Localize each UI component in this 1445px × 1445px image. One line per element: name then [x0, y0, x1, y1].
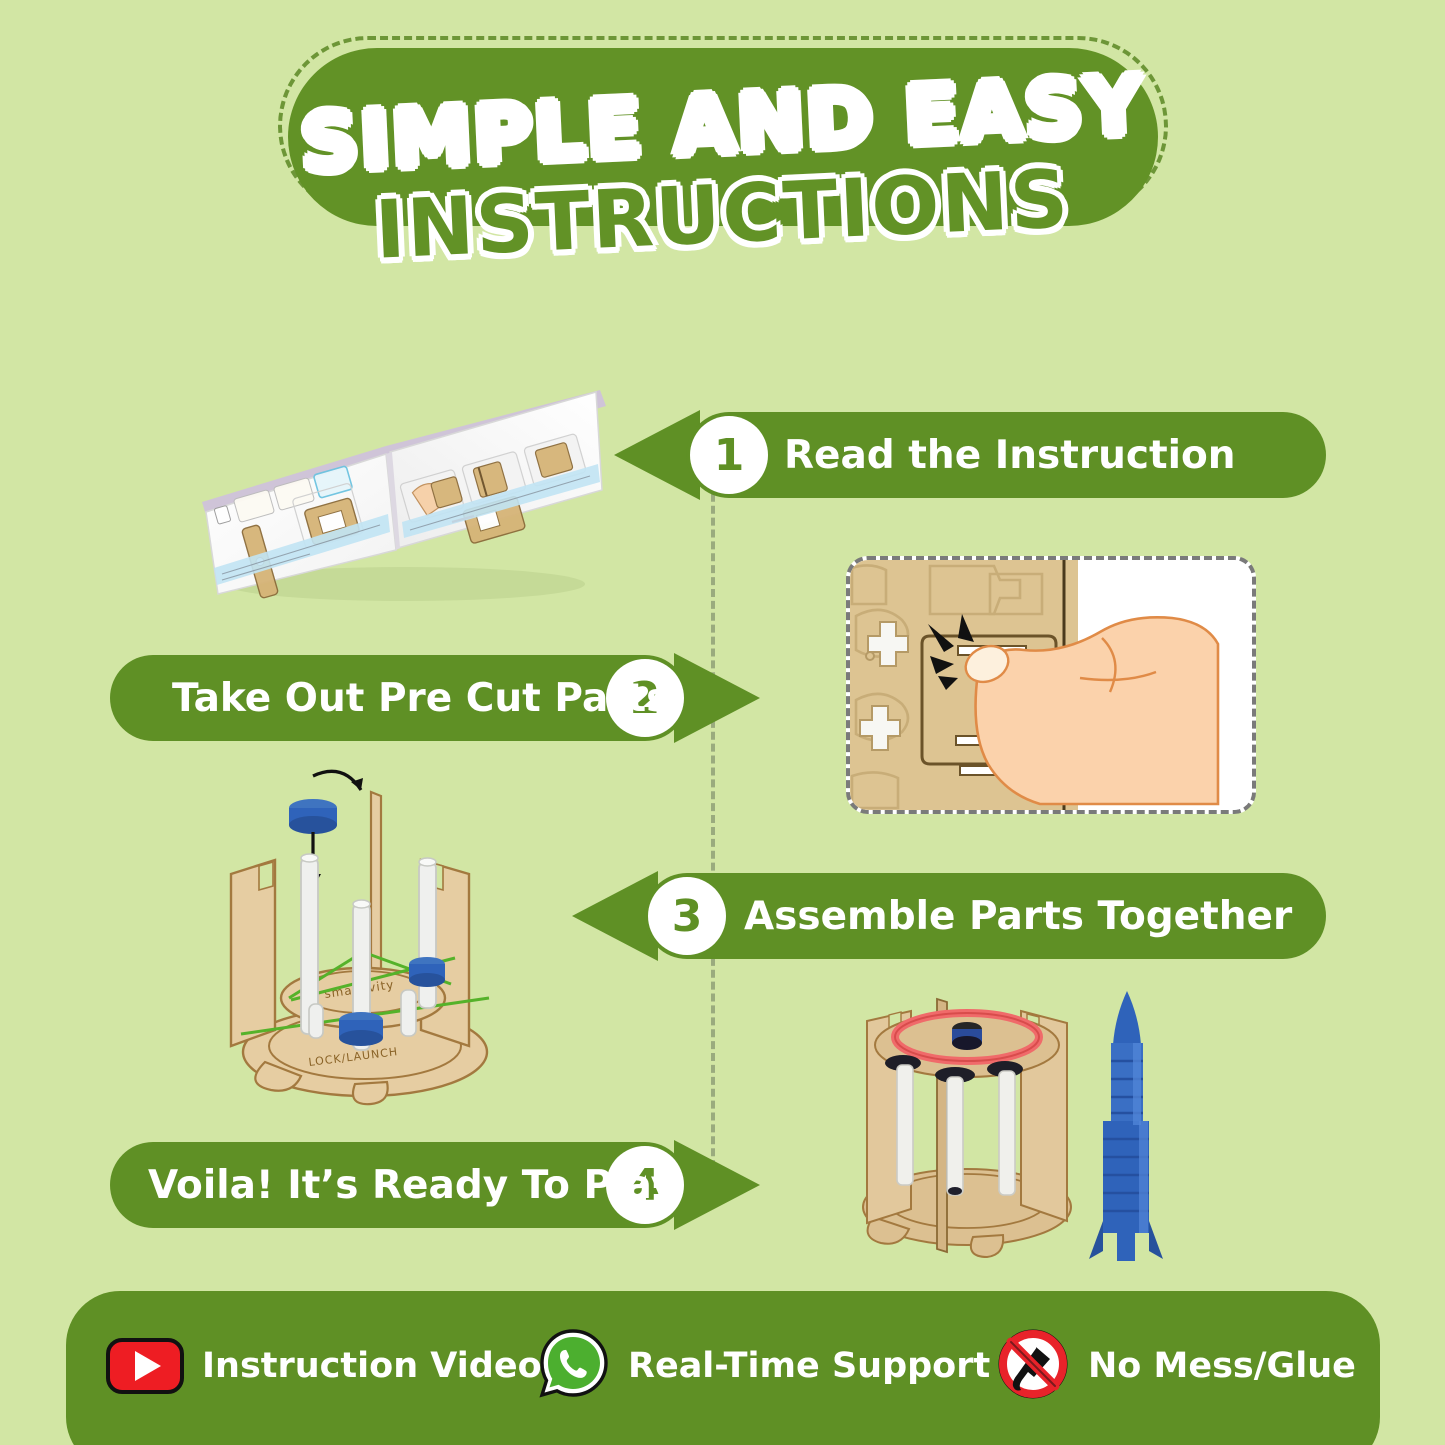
footer-item-label: Real-Time Support [628, 1346, 990, 1386]
footer-item-label: Instruction Video [202, 1346, 542, 1386]
booklet-svg [190, 372, 610, 607]
pre-cut-parts-board-illustration [846, 556, 1256, 814]
instruction-booklet-photo [190, 372, 610, 607]
precut-svg [850, 560, 1252, 810]
footer-items-row: Instruction Video Real-Time Support [66, 1291, 1380, 1441]
step-label: Assemble Parts Together [744, 873, 1292, 959]
step-banner-2[interactable]: 2 Take Out Pre Cut Parts [110, 655, 760, 741]
step-banner-4[interactable]: 4 Voila! It’s Ready To Play [110, 1142, 760, 1228]
arrow-right-icon [674, 1140, 760, 1230]
final-svg [855, 985, 1185, 1265]
header-banner: SIMPLE AND EASY INSTRUCTIONS [0, 0, 1445, 300]
infographic-canvas: SIMPLE AND EASY INSTRUCTIONS 1 Read the … [0, 0, 1445, 1445]
no-glue-prohibition-icon [996, 1327, 1070, 1406]
step-label: Read the Instruction [784, 412, 1236, 498]
play-triangle-icon [135, 1351, 161, 1381]
step-connector-line [711, 470, 715, 1180]
whatsapp-icon [536, 1327, 610, 1406]
footer-item-real-time-support[interactable]: Real-Time Support [536, 1291, 990, 1441]
exploded-assembly-diagram: LOCK/LAUNCH smartivity [205, 762, 525, 1107]
step-label: Take Out Pre Cut Parts [172, 655, 669, 741]
youtube-play-icon [106, 1338, 184, 1394]
step-banner-3[interactable]: 3 Assemble Parts Together [572, 873, 1326, 959]
footer-features-panel: Instruction Video Real-Time Support [66, 1291, 1380, 1445]
step-label: Voila! It’s Ready To Play [148, 1142, 676, 1228]
footer-item-label: No Mess/Glue [1088, 1346, 1356, 1386]
assembly-svg: LOCK/LAUNCH smartivity [205, 762, 525, 1107]
arrow-right-icon [674, 653, 760, 743]
footer-item-no-mess-glue[interactable]: No Mess/Glue [996, 1291, 1356, 1441]
step-number-badge: 3 [648, 877, 726, 955]
finished-launcher-and-rocket-photo [855, 985, 1185, 1265]
step-number-badge: 1 [690, 416, 768, 494]
step-banner-1[interactable]: 1 Read the Instruction [614, 412, 1326, 498]
footer-item-instruction-video[interactable]: Instruction Video [106, 1291, 542, 1441]
